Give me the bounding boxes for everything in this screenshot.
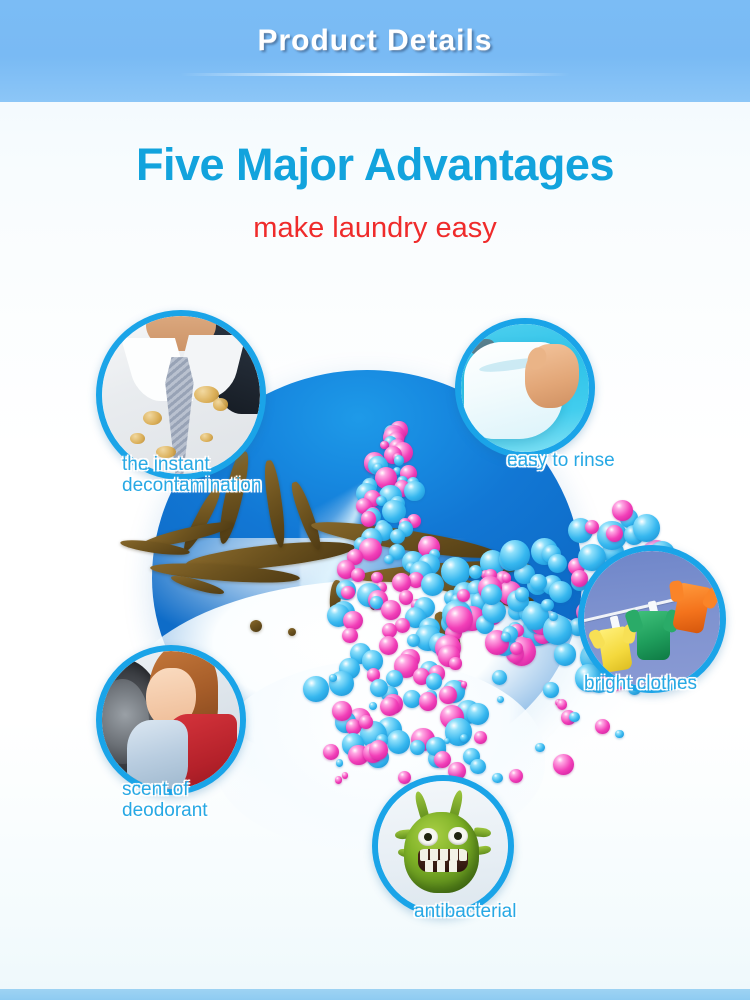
molecule-bubble xyxy=(515,587,529,601)
molecule-bubble xyxy=(633,514,661,542)
product-details-page: Product Details Five Major Advantages ma… xyxy=(0,0,750,1000)
molecule-bubble xyxy=(549,612,558,621)
molecule-bubble xyxy=(381,600,401,620)
molecule-bubble xyxy=(332,701,351,720)
molecule-bubble xyxy=(585,520,599,534)
molecule-bubble xyxy=(343,611,362,630)
woman-smelling-laundry-photo xyxy=(102,651,240,789)
molecule-bubble xyxy=(543,682,559,698)
feature-scent-of-deodorant[interactable]: scent of deodorant xyxy=(96,645,246,795)
molecule-bubble xyxy=(500,540,530,570)
feature-instant-decontamination[interactable]: the instant decontamination xyxy=(96,310,266,480)
molecule-bubble xyxy=(469,565,483,579)
feature-caption: bright clothes xyxy=(584,673,750,694)
feature-caption: the instant decontamination xyxy=(122,454,322,496)
molecule-bubble xyxy=(303,676,329,702)
molecule-bubble xyxy=(557,699,568,710)
green-germ-photo xyxy=(378,781,508,911)
feature-image-ring xyxy=(455,318,595,458)
molecule-bubble xyxy=(474,731,487,744)
molecule-bubble xyxy=(502,573,512,583)
molecule-bubble xyxy=(470,759,485,774)
feature-antibacterial[interactable]: antibacterial xyxy=(372,775,514,917)
stained-shirt-photo xyxy=(102,316,260,474)
molecule-bubble xyxy=(446,606,473,633)
molecule-bubble xyxy=(541,599,554,612)
molecule-bubble xyxy=(342,628,357,643)
molecule-bubble xyxy=(543,615,573,645)
molecule-bubble xyxy=(535,743,545,753)
molecule-bubble xyxy=(439,686,457,704)
molecule-bubble xyxy=(386,670,403,687)
molecule-bubble xyxy=(569,712,580,723)
molecule-bubble xyxy=(370,679,388,697)
header-divider xyxy=(180,73,570,76)
molecule-bubble xyxy=(449,657,461,669)
molecule-bubble xyxy=(346,719,361,734)
feature-easy-to-rinse[interactable]: easy to rinse xyxy=(455,318,595,458)
rinsing-cloth-photo xyxy=(461,324,589,452)
molecule-bubble xyxy=(342,772,348,778)
page-header-banner: Product Details xyxy=(0,0,750,102)
molecule-bubble xyxy=(380,697,399,716)
molecule-bubble xyxy=(390,529,405,544)
feature-caption: antibacterial xyxy=(414,901,604,922)
molecule-bubble xyxy=(419,692,438,711)
molecule-bubble xyxy=(467,703,489,725)
molecule-bubble xyxy=(359,715,373,729)
bottom-accent-strip xyxy=(0,989,750,1000)
molecule-bubble xyxy=(329,674,336,681)
page-title: Product Details xyxy=(0,24,750,58)
feature-bright-clothes[interactable]: bright clothes xyxy=(578,545,726,693)
molecule-bubble xyxy=(369,702,377,710)
molecule-bubble xyxy=(426,673,443,690)
feature-caption: easy to rinse xyxy=(507,450,687,471)
molecule-bubble xyxy=(460,734,468,742)
molecule-bubble xyxy=(501,632,511,642)
molecule-bubble xyxy=(369,740,389,760)
main-heading: Five Major Advantages xyxy=(0,139,750,191)
molecule-bubble xyxy=(351,568,365,582)
molecule-bubble xyxy=(421,573,444,596)
molecule-bubble xyxy=(361,511,376,526)
sub-heading: make laundry easy xyxy=(0,212,750,245)
molecule-bubble xyxy=(410,740,424,754)
feature-image-ring xyxy=(578,545,726,693)
feature-caption: scent of deodorant xyxy=(122,779,292,821)
clothesline-photo xyxy=(584,551,720,687)
molecule-bubble xyxy=(404,481,425,502)
feature-image-ring xyxy=(96,645,246,795)
feature-image-ring xyxy=(372,775,514,917)
molecule-bubble xyxy=(394,455,404,465)
molecule-bubble xyxy=(392,573,411,592)
molecule-bubble xyxy=(461,681,467,687)
molecule-bubble xyxy=(615,730,623,738)
molecule-bubble xyxy=(335,776,342,783)
